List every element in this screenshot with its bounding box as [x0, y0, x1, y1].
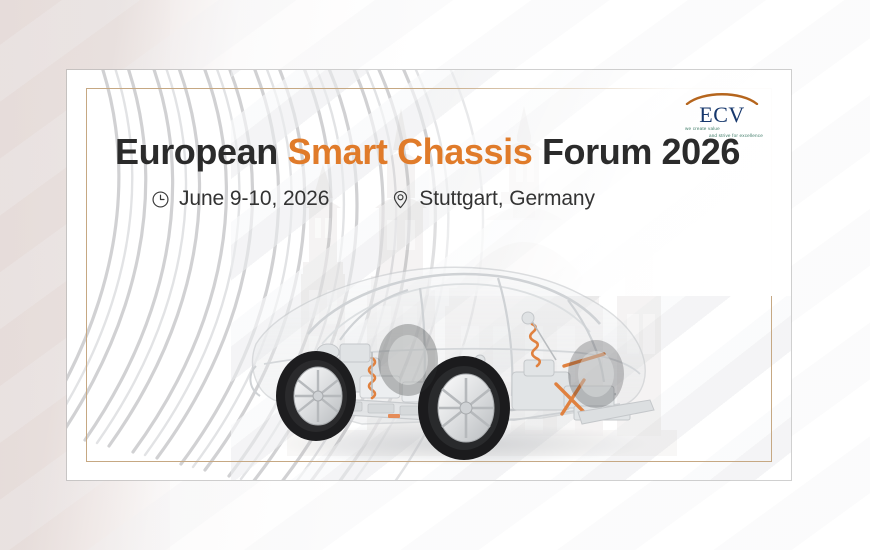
event-date-label: June 9-10, 2026	[179, 187, 329, 211]
rear-wheel	[418, 356, 510, 460]
event-banner: ECV we create value and strive for excel…	[67, 70, 791, 480]
headline-block: European Smart Chassis Forum 2026 June 9…	[115, 132, 775, 211]
title-part-1: European	[115, 131, 287, 172]
page-root: ECV we create value and strive for excel…	[0, 0, 870, 550]
event-date: June 9-10, 2026	[151, 187, 329, 211]
map-pin-icon	[391, 190, 410, 209]
title-accent: Smart Chassis	[287, 131, 532, 172]
event-meta-row: June 9-10, 2026 Stuttgart, Germany	[115, 187, 775, 211]
car-chassis-illustration	[212, 248, 682, 473]
title-part-2: Forum 2026	[532, 131, 740, 172]
event-location-label: Stuttgart, Germany	[419, 187, 595, 211]
event-location: Stuttgart, Germany	[391, 187, 595, 211]
front-wheel	[276, 351, 356, 441]
clock-icon	[151, 190, 170, 209]
event-title: European Smart Chassis Forum 2026	[115, 132, 775, 172]
logo-wordmark: ECV	[679, 104, 765, 126]
